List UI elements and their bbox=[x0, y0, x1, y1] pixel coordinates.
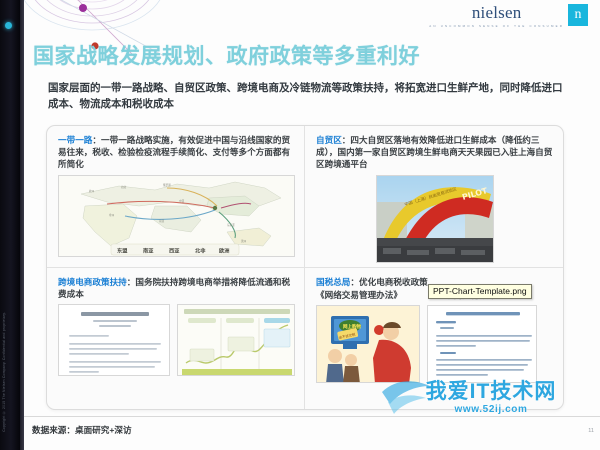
svg-text:南亚: 南亚 bbox=[159, 219, 165, 223]
law-item: 《网络交易管理办法》 bbox=[316, 289, 402, 301]
content-card: 一带一路：一带一路战略实施，有效促进中国与沿线国家的贸易往来，税收、检验检疫流程… bbox=[46, 125, 564, 410]
page-title: 国家战略发展规划、政府政策等多重利好 bbox=[33, 40, 420, 70]
svg-text:南亚: 南亚 bbox=[143, 246, 154, 254]
data-source-note: 数据来源：桌面研究+深访 bbox=[32, 424, 132, 436]
slide-subtitle: 国家层面的一带一路战略、自贸区政策、跨境电商及冷链物流等政策扶持，将拓宽进口生鲜… bbox=[48, 80, 563, 113]
quadrant-text: 一带一路：一带一路战略实施，有效促进中国与沿线国家的贸易往来，税收、检验检疫流程… bbox=[58, 134, 295, 171]
quadrant-free-trade-zone: 自贸区：四大自贸区落地有效降低进口生鲜成本（降低约三成），国内第一家自贸区跨境生… bbox=[305, 126, 563, 268]
logo-badge: n bbox=[568, 4, 588, 26]
logo-tagline: AN UNCOMMON SENSE OF THE CONSUMER bbox=[429, 24, 564, 28]
svg-text:非洲: 非洲 bbox=[109, 213, 115, 217]
figure-tax-cartoon: 网上购物 该不该交税 bbox=[316, 305, 420, 383]
svg-text:北欧: 北欧 bbox=[121, 185, 127, 189]
window-left-strip: Copyright © 2015 The Nielsen Company. Co… bbox=[0, 0, 20, 450]
quadrant-text: 跨境电商政策扶持：国务院扶持跨境电商举措将降低流通和税费成本 bbox=[58, 276, 295, 300]
logo-wordmark: nielsen bbox=[472, 4, 522, 21]
footer-divider bbox=[24, 416, 600, 417]
figure-tax-document bbox=[427, 305, 537, 383]
quadrant-separator: ： bbox=[350, 277, 359, 287]
quadrant-body: 优化电商税收政策 bbox=[359, 277, 428, 287]
page-number: 11 bbox=[588, 428, 594, 434]
vertical-copyright: Copyright © 2015 The Nielsen Company. Co… bbox=[3, 312, 6, 432]
quadrant-body: 四大自贸区落地有效降低进口生鲜成本（降低约三成），国内第一家自贸区跨境生鲜电商天… bbox=[316, 135, 552, 169]
svg-text:欧洲: 欧洲 bbox=[219, 246, 229, 254]
svg-text:东盟: 东盟 bbox=[117, 246, 128, 254]
svg-text:北非: 北非 bbox=[195, 246, 206, 254]
svg-text:西亚: 西亚 bbox=[169, 246, 180, 254]
file-tooltip: PPT-Chart-Template.png bbox=[428, 284, 532, 299]
svg-text:俄罗斯: 俄罗斯 bbox=[163, 183, 171, 187]
figure-growth-chart bbox=[177, 304, 295, 376]
svg-text:东南亚: 东南亚 bbox=[227, 223, 235, 227]
nielsen-logo: nielsen AN UNCOMMON SENSE OF THE CONSUME… bbox=[429, 4, 588, 28]
quadrant-cross-border-ecommerce: 跨境电商政策扶持：国务院扶持跨境电商举措将降低流通和税费成本 bbox=[47, 268, 305, 410]
quadrant-keyword: 自贸区 bbox=[316, 135, 342, 145]
quadrant-text: 自贸区：四大自贸区落地有效降低进口生鲜成本（降低约三成），国内第一家自贸区跨境生… bbox=[316, 134, 554, 171]
presentation-slide: nielsen AN UNCOMMON SENSE OF THE CONSUME… bbox=[0, 0, 600, 450]
figure-ftz-photo: PILOT 中国（上海）自由贸易试验区 bbox=[376, 175, 494, 263]
quadrant-keyword: 一带一路 bbox=[58, 135, 92, 145]
svg-text:中亚: 中亚 bbox=[179, 199, 185, 203]
figure-policy-document bbox=[58, 304, 170, 376]
window-edge bbox=[20, 0, 24, 450]
quadrant-belt-and-road: 一带一路：一带一路战略实施，有效促进中国与沿线国家的贸易往来，税收、检验检疫流程… bbox=[47, 126, 305, 268]
quadrant-keyword: 国税总局 bbox=[316, 277, 350, 287]
svg-text:欧洲: 欧洲 bbox=[89, 189, 95, 193]
accent-dot-icon bbox=[5, 22, 12, 29]
deco-dot-purple bbox=[79, 4, 87, 12]
quadrant-keyword: 跨境电商政策扶持 bbox=[58, 277, 127, 287]
figure-belt-road-map: 欧洲北欧 俄罗斯中亚 非洲南亚 东南亚澳洲 东盟南亚 西亚北非 欧洲 bbox=[58, 175, 295, 257]
svg-text:澳洲: 澳洲 bbox=[241, 239, 247, 243]
quadrant-separator: ： bbox=[92, 135, 101, 145]
